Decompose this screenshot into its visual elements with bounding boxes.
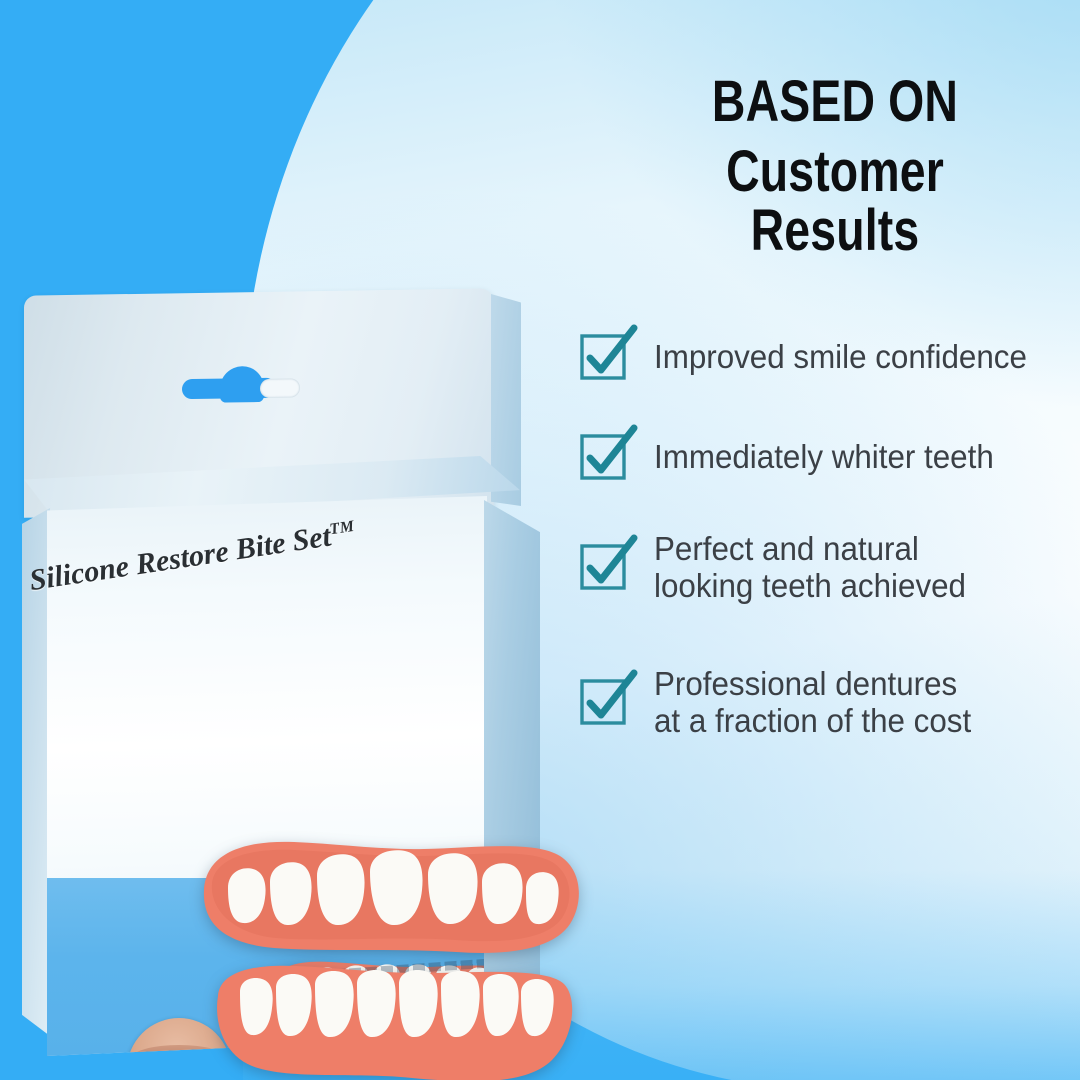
benefits-list: Improved smile confidence Immediately wh… xyxy=(578,330,1080,739)
headline-line-2: Customer Results xyxy=(647,142,1023,261)
lower-denture-veneer-foreground xyxy=(208,950,578,1080)
euro-slot-hang-hole-icon xyxy=(182,369,298,397)
trademark-symbol: TM xyxy=(328,518,355,539)
list-item-label: Perfect and natural looking teeth achiev… xyxy=(654,530,966,605)
headline-line-1: BASED ON xyxy=(647,72,1023,132)
list-item-label: Immediately whiter teeth xyxy=(654,438,994,475)
list-item: Professional dentures at a fraction of t… xyxy=(578,665,1080,740)
list-item-label: Improved smile confidence xyxy=(654,338,1027,375)
advertisement-canvas: BASED ON Customer Results Improved smile… xyxy=(0,0,1080,1080)
product-package: Silicone Restore Bite SetTM xyxy=(0,250,600,1080)
list-item: Improved smile confidence xyxy=(578,330,1080,384)
page-title: BASED ON Customer Results xyxy=(600,72,1070,261)
list-item: Immediately whiter teeth xyxy=(578,430,1080,484)
list-item-label: Professional dentures at a fraction of t… xyxy=(654,665,971,740)
list-item: Perfect and natural looking teeth achiev… xyxy=(578,530,1080,605)
